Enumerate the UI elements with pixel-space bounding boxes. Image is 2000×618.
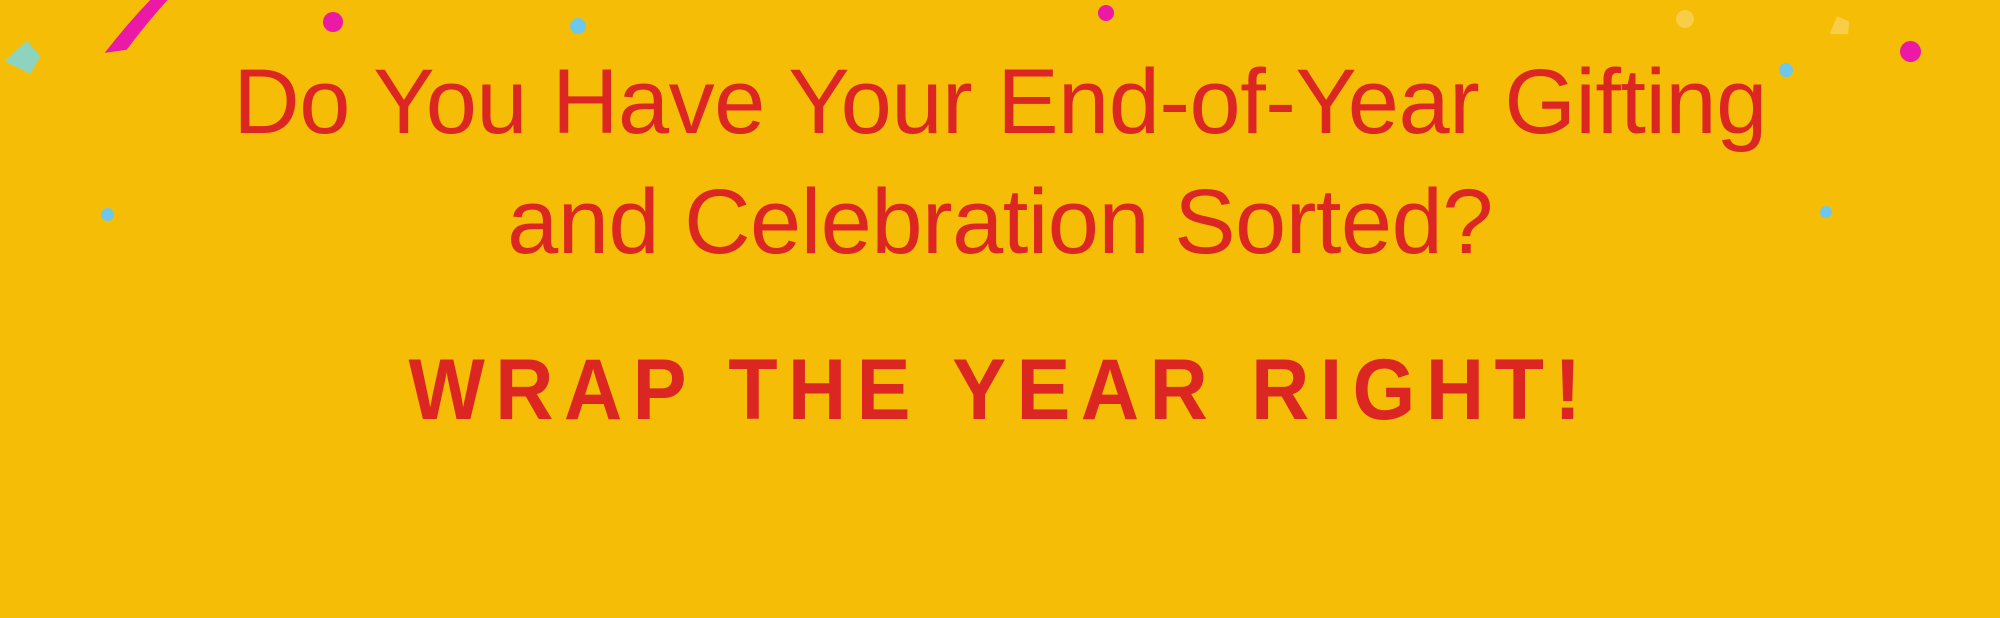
subheadline-wrap-the-year-right: WRAP THE YEAR RIGHT!	[60, 340, 1940, 440]
headline-line-1: Do You Have Your End-of-Year Gifting	[0, 42, 2000, 162]
promo-banner: Do You Have Your End-of-Year Gifting and…	[0, 0, 2000, 618]
banner-text-block: Do You Have Your End-of-Year Gifting and…	[0, 0, 2000, 618]
headline-line-2: and Celebration Sorted?	[0, 162, 2000, 282]
